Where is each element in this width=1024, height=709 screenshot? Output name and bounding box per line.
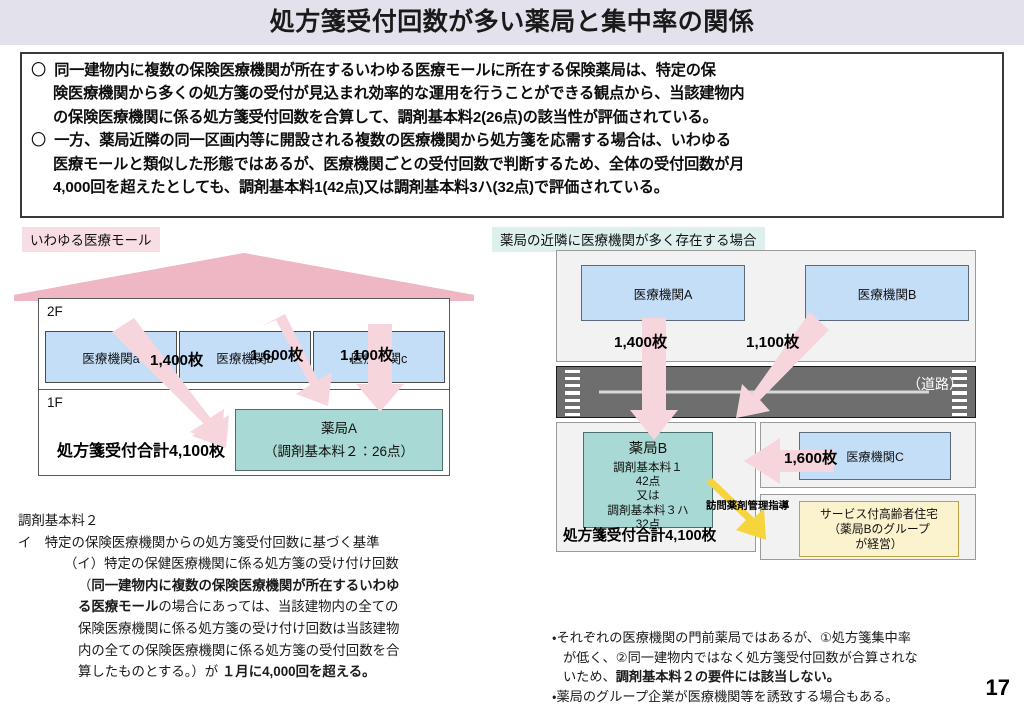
count-label-1100-left: 1,100枚: [340, 343, 393, 365]
statement-line: 険医療機関から多くの処方箋の受付が見込まれ効率的な運用を行うことができる観点から…: [31, 82, 994, 105]
footnote-item-i: イ 特定の保険医療機関からの処方箋受付回数に基づく基準: [18, 532, 488, 554]
right-footnote-line: いため、調剤基本料２の要件には該当しない。: [552, 667, 982, 687]
footnote-text-bold: 同一建物内に複数の保険医療機関が所在するいわゆ: [91, 578, 399, 593]
statement-text: 同一建物内に複数の保険医療機関が所在するいわゆる医療モールに所在する保険薬局は、…: [54, 62, 716, 79]
left-footnote: 調剤基本料２ イ 特定の保険医療機関からの処方箋受付回数に基づく基準 （イ）特定…: [18, 510, 488, 683]
footnote-heading: 調剤基本料２: [18, 510, 488, 532]
right-footnote-line: が低く、②同一建物内ではなく処方箋受付回数が合算されな: [552, 648, 982, 668]
arrow-from-clinic-c: [356, 324, 404, 412]
page-title: 処方箋受付回数が多い薬局と集中率の関係: [0, 2, 1024, 43]
statement-line: 医療モールと類似した形態ではあるが、医療機関ごとの受付回数で判断するため、全体の…: [31, 153, 994, 176]
section-tag-nearby-clinics: 薬局の近隣に医療機関が多く存在する場合: [492, 227, 765, 252]
count-label-1600-right: 1,600枚: [784, 446, 837, 468]
footnote-body-line: 算したものとする。）が １月に4,000回を超える。: [18, 661, 488, 683]
statement-paragraph-2: 〇 一方、薬局近隣の同一区画内等に開設される複数の医療機関から処方箋を応需する場…: [31, 129, 994, 199]
bullet-mark: 〇: [31, 62, 46, 79]
right-footnote: ・それぞれの医療機関の門前薬局ではあるが、①処方箋集中率 が低く、②同一建物内で…: [552, 628, 982, 706]
right-flow-arrows: [548, 250, 988, 580]
footnote-text: 算したものとする。）が: [78, 664, 222, 679]
footnote-text: （: [78, 578, 91, 593]
right-footnote-line: ・薬局のグループ企業が医療機関等を誘致する場合もある。: [552, 687, 982, 707]
right-footnote-text: いため、: [563, 669, 616, 684]
right-footnote-text-bold: 調剤基本料２の要件には該当しない。: [616, 669, 840, 684]
right-footnote-line: ・それぞれの医療機関の門前薬局ではあるが、①処方箋集中率: [552, 628, 982, 648]
footnote-body-line: る医療モールの場合にあっては、当該建物内の全ての: [18, 596, 488, 618]
statement-line: 〇 同一建物内に複数の保険医療機関が所在するいわゆる医療モールに所在する保険薬局…: [31, 59, 994, 82]
footnote-body-line: 保険医療機関に係る処方箋の受け付け回数は当該建物: [18, 618, 488, 640]
statement-text: 一方、薬局近隣の同一区画内等に開設される複数の医療機関から処方箋を応需する場合は…: [54, 132, 731, 149]
left-flow-arrows: [0, 248, 500, 508]
statement-line: 〇 一方、薬局近隣の同一区画内等に開設される複数の医療機関から処方箋を応需する場…: [31, 129, 994, 152]
page-number: 17: [986, 675, 1010, 701]
footnote-text: の場合にあっては、当該建物内の全ての: [158, 599, 398, 614]
statement-line: 4,000回を超えたとしても、調剤基本料1(42点)又は調剤基本料3ハ(32点)…: [31, 176, 994, 199]
count-label-1400-right: 1,400枚: [614, 330, 667, 352]
footnote-body-line: 内の全ての保険医療機関に係る処方箋の受付回数を合: [18, 640, 488, 662]
footnote-text-bold: １月に4,000回を超える。: [222, 664, 376, 679]
footnote-body-line: （同一建物内に複数の保険医療機関が所在するいわゆ: [18, 575, 488, 597]
footnote-sub-i: （イ）特定の保健医療機関に係る処方箋の受け付け回数: [18, 553, 488, 575]
footnote-text-bold: る医療モール: [78, 599, 158, 614]
arrow-from-clinic-a: [112, 318, 229, 448]
bullet-mark: 〇: [31, 132, 46, 149]
count-label-1100-right: 1,100枚: [746, 330, 799, 352]
left-diagram: 2F 1F 医療機関a 医療機関b 医療機関c 処方箋受付合計4,100枚 薬局…: [0, 248, 500, 508]
count-label-1600-left: 1,600枚: [250, 343, 303, 365]
arrow-from-clinic-B: [736, 312, 829, 418]
visiting-pharmacist-label: 訪問薬剤管理指導: [706, 497, 789, 512]
statement-box: 〇 同一建物内に複数の保険医療機関が所在するいわゆる医療モールに所在する保険薬局…: [20, 52, 1004, 218]
statement-line: の保険医療機関に係る処方箋受付回数を合算して、調剤基本料2(26点)の該当性が評…: [31, 106, 994, 129]
count-label-1400-left: 1,400枚: [150, 348, 203, 370]
statement-paragraph-1: 〇 同一建物内に複数の保険医療機関が所在するいわゆる医療モールに所在する保険薬局…: [31, 59, 994, 129]
slide-root: 処方箋受付回数が多い薬局と集中率の関係 〇 同一建物内に複数の保険医療機関が所在…: [0, 0, 1024, 709]
right-diagram: 医療機関A 医療機関B （道路）: [548, 250, 988, 630]
